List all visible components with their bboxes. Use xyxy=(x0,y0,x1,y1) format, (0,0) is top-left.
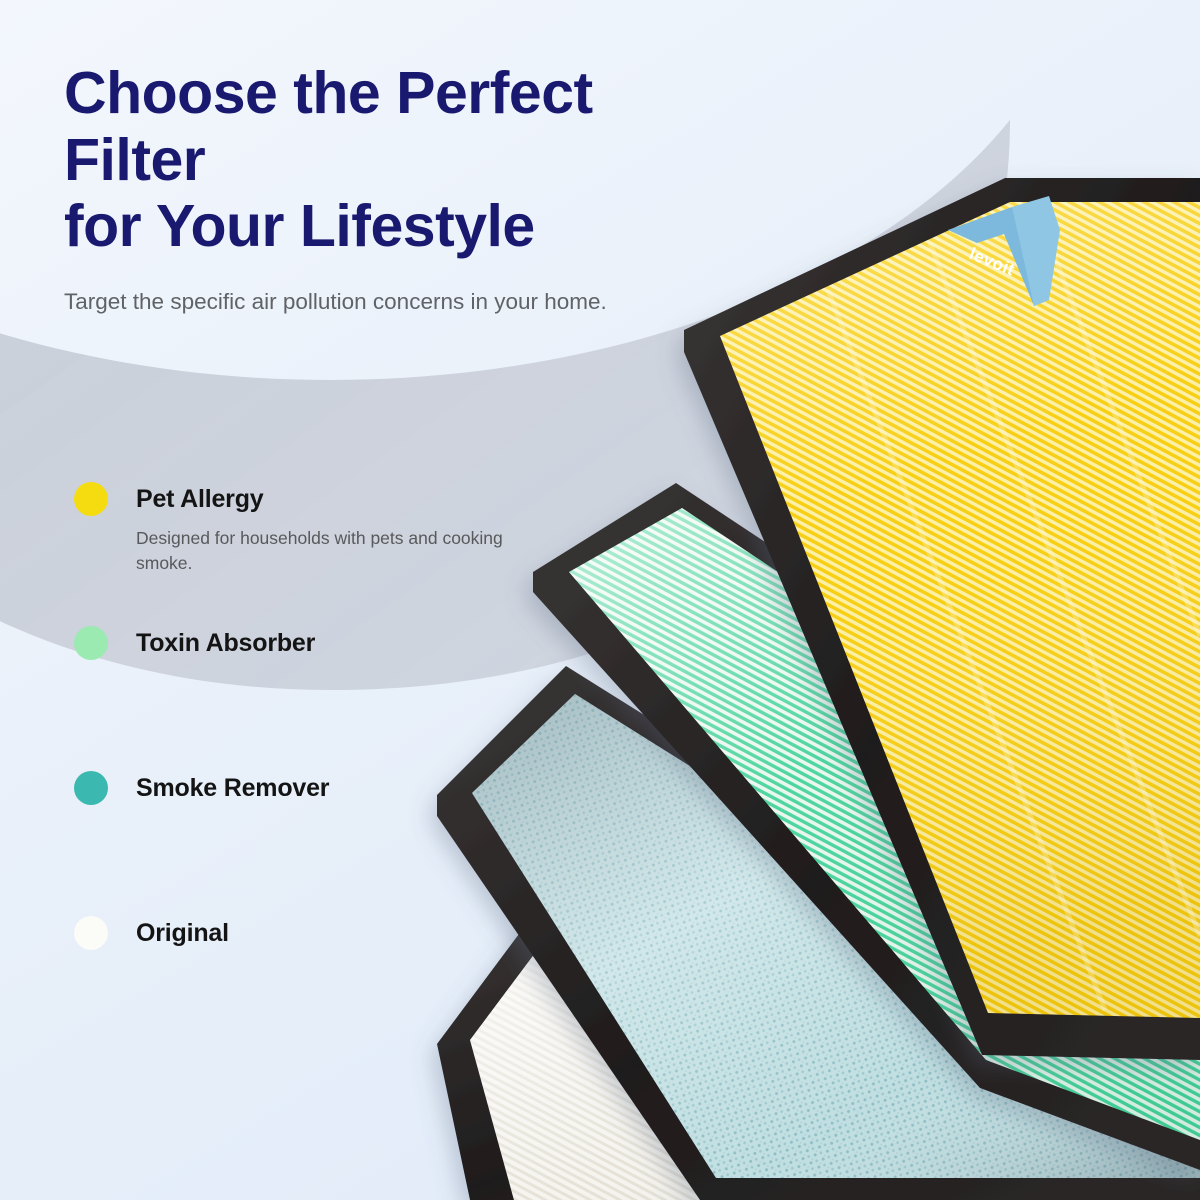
toxin-absorber-dot xyxy=(74,626,108,660)
feature-header: Original xyxy=(74,916,229,950)
feature-item-toxin-absorber[interactable]: Toxin Absorber xyxy=(74,626,315,660)
feature-label: Original xyxy=(136,919,229,948)
feature-label: Toxin Absorber xyxy=(136,629,315,658)
feature-label: Pet Allergy xyxy=(136,485,263,514)
feature-item-original[interactable]: Original xyxy=(74,916,229,950)
feature-item-smoke-remover[interactable]: Smoke Remover xyxy=(74,771,329,805)
product-hero-banner: Choose the Perfect Filter for Your Lifes… xyxy=(0,0,1200,1200)
page-title: Choose the Perfect Filter for Your Lifes… xyxy=(64,60,724,260)
headline-line-1: Choose the Perfect Filter xyxy=(64,60,593,193)
feature-header: Smoke Remover xyxy=(74,771,329,805)
headline-line-2: for Your Lifestyle xyxy=(64,193,535,259)
feature-header: Pet Allergy xyxy=(74,482,504,516)
feature-header: Toxin Absorber xyxy=(74,626,315,660)
smoke-remover-dot xyxy=(74,771,108,805)
hero-copy: Choose the Perfect Filter for Your Lifes… xyxy=(64,60,724,318)
pet-allergy-dot xyxy=(74,482,108,516)
feature-label: Smoke Remover xyxy=(136,774,329,803)
feature-item-pet-allergy[interactable]: Pet Allergy Designed for households with… xyxy=(74,482,504,576)
original-dot xyxy=(74,916,108,950)
hero-subtitle: Target the specific air pollution concer… xyxy=(64,286,704,318)
feature-description: Designed for households with pets and co… xyxy=(136,526,504,576)
